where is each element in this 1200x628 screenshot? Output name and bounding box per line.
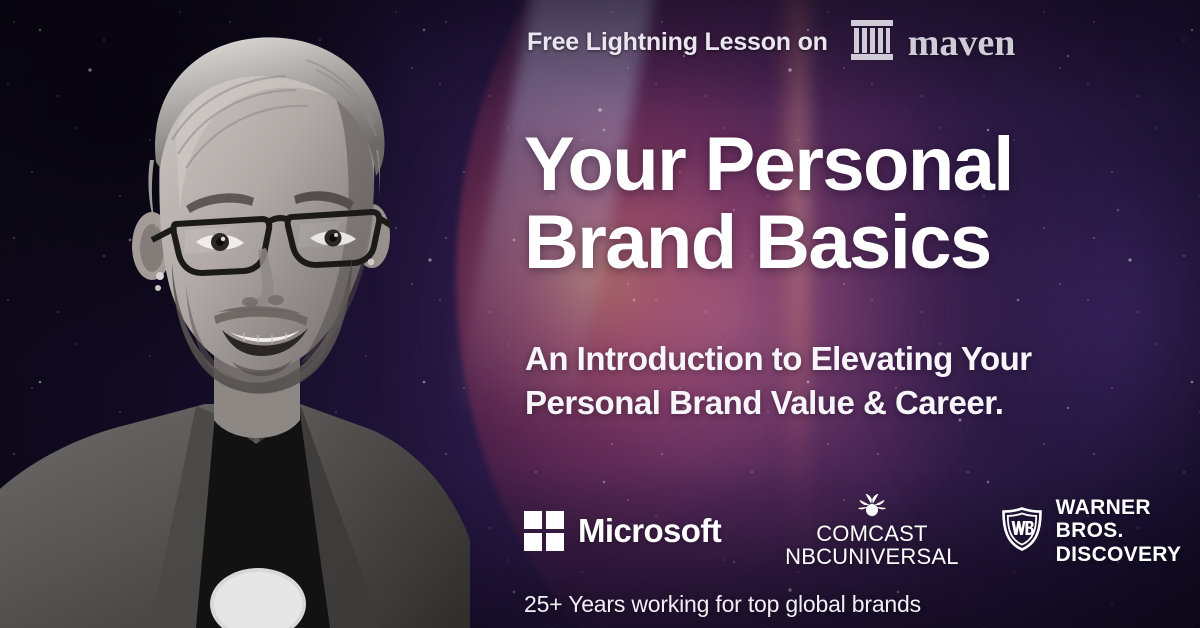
maven-wordmark: maven — [908, 24, 1016, 62]
subhead-line-2: Personal Brand Value & Career. — [525, 381, 1165, 425]
brand-logo-comcast-nbcuniversal: COMCAST NBCUNIVERSAL — [785, 494, 959, 568]
experience-tagline: 25+ Years working for top global brands — [524, 591, 921, 618]
microsoft-wordmark: Microsoft — [578, 512, 721, 550]
headline-line-1: Your Personal — [524, 126, 1164, 204]
comcast-wordmark: COMCAST NBCUNIVERSAL — [785, 523, 959, 568]
comcast-line-2: NBCUNIVERSAL — [785, 544, 959, 569]
client-logo-strip: Microsoft — [524, 498, 1164, 564]
page-title: Your Personal Brand Basics — [524, 126, 1164, 283]
wb-line-2: DISCOVERY — [1056, 543, 1182, 566]
headline-line-2: Brand Basics — [524, 204, 1164, 282]
promo-banner: Free Lightning Lesson on — [0, 0, 1200, 628]
wb-line-1: WARNER BROS. — [1056, 496, 1151, 542]
nbc-peacock-icon — [855, 494, 889, 521]
warner-bros-wordmark: WARNER BROS. DISCOVERY — [1056, 496, 1182, 565]
warner-bros-shield-icon — [1001, 507, 1043, 556]
content-column: Free Lightning Lesson on — [524, 0, 1164, 628]
page-subtitle: An Introduction to Elevating Your Person… — [525, 337, 1165, 425]
subhead-line-1: An Introduction to Elevating Your — [525, 337, 1165, 381]
microsoft-four-squares-icon — [524, 511, 564, 551]
brand-logo-warner-bros-discovery: WARNER BROS. DISCOVERY — [1001, 496, 1182, 565]
greek-temple-columns-icon — [850, 19, 894, 66]
maven-logo[interactable]: maven — [850, 19, 1016, 66]
brand-logo-microsoft: Microsoft — [524, 511, 721, 551]
comcast-line-1: COMCAST — [816, 521, 927, 546]
header-row: Free Lightning Lesson on — [527, 19, 1015, 66]
lesson-label: Free Lightning Lesson on — [527, 28, 828, 57]
